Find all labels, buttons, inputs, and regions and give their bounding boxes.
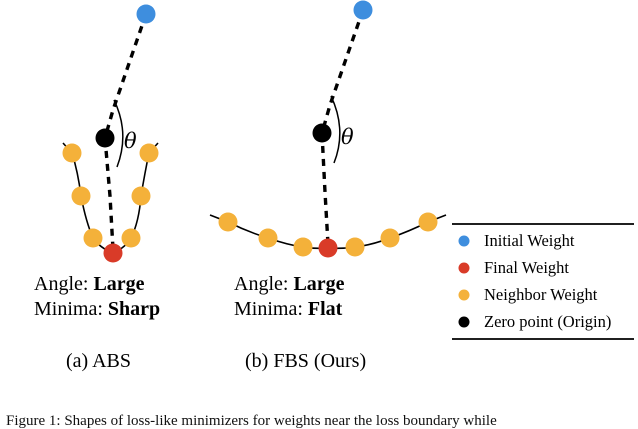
angle-arc-b	[331, 96, 340, 163]
dashed-path-initial-to-origin-a	[105, 14, 146, 138]
neighbor-weight-dot	[84, 229, 103, 248]
figure-canvas	[0, 0, 638, 424]
neighbor-weight-dot	[219, 213, 238, 232]
legend-marker-zero-point	[459, 317, 470, 328]
neighbor-weight-dot	[381, 229, 400, 248]
figure-root: θ θ Angle: Large Minima: Sharp Angle: La…	[0, 0, 638, 424]
panel-a-graphics	[63, 5, 159, 263]
neighbor-weight-dot	[122, 229, 141, 248]
zero-point-dot	[313, 124, 332, 143]
dashed-path-origin-to-final-b	[322, 133, 328, 244]
legend-marker-final-weight	[459, 263, 470, 274]
neighbor-weight-dot	[259, 229, 278, 248]
initial-weight-dot	[354, 1, 373, 20]
neighbor-weight-dot	[63, 144, 82, 163]
final-weight-dot	[104, 244, 123, 263]
angle-arc-a	[114, 100, 123, 167]
legend-marker-neighbor-weight	[459, 290, 470, 301]
zero-point-dot	[96, 129, 115, 148]
dashed-path-initial-to-origin-b	[322, 10, 363, 133]
legend-marker-initial-weight	[459, 236, 470, 247]
neighbor-weight-dot	[72, 187, 91, 206]
final-weight-dot	[319, 239, 338, 258]
neighbor-weight-dot	[132, 187, 151, 206]
panel-b-graphics	[210, 1, 446, 258]
dashed-path-origin-to-final-a	[105, 138, 113, 249]
legend-box	[452, 224, 634, 339]
neighbor-weight-dot	[346, 238, 365, 257]
neighbor-weight-dot	[419, 213, 438, 232]
initial-weight-dot	[137, 5, 156, 24]
neighbor-weight-dot	[294, 238, 313, 257]
neighbor-weight-dot	[140, 144, 159, 163]
